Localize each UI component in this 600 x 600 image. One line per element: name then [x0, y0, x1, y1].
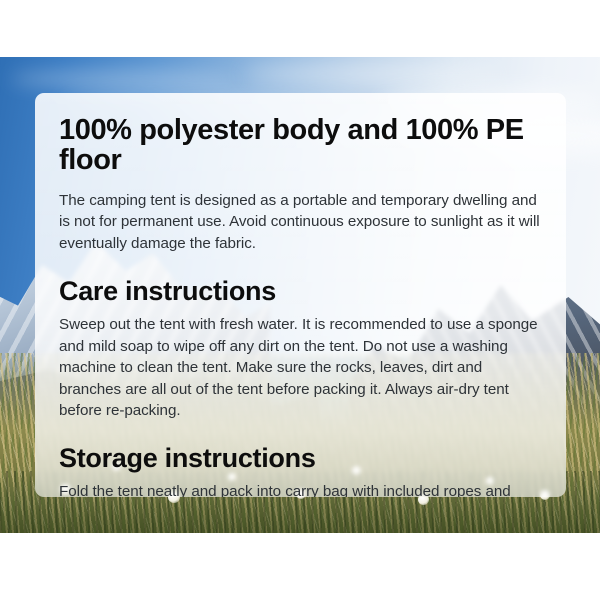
cloud-wisp-icon: [240, 63, 500, 85]
info-panel: 100% polyester body and 100% PE floor Th…: [35, 93, 566, 497]
storage-instructions-body: Fold the tent neatly and pack into carry…: [59, 481, 542, 497]
care-instructions-heading: Care instructions: [59, 277, 542, 305]
storage-instructions-heading: Storage instructions: [59, 444, 542, 472]
care-instructions-body: Sweep out the tent with fresh water. It …: [59, 314, 542, 422]
material-heading: 100% polyester body and 100% PE floor: [59, 115, 542, 176]
product-info-card: 100% polyester body and 100% PE floor Th…: [0, 0, 600, 600]
material-body: The camping tent is designed as a portab…: [59, 190, 542, 255]
cloud-wisp-icon: [10, 71, 240, 87]
